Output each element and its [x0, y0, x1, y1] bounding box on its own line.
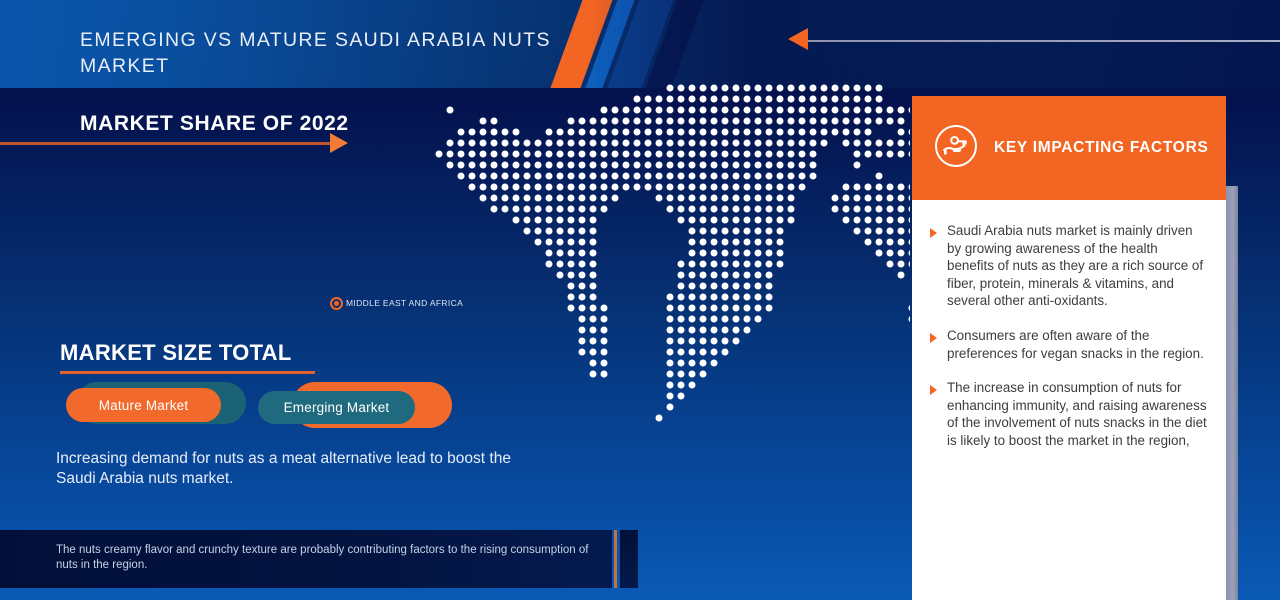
- key-impacting-factors-panel: KEY IMPACTING FACTORS Saudi Arabia nuts …: [912, 96, 1226, 600]
- header-gradient-overlay: [590, 0, 1280, 88]
- market-share-heading: MARKET SHARE OF 2022: [80, 112, 349, 136]
- list-item: The increase in consumption of nuts for …: [930, 379, 1208, 449]
- market-size-rule: [60, 371, 315, 374]
- legend-item-mature-market[interactable]: Mature Market: [66, 388, 256, 436]
- market-size-caption: Increasing demand for nuts as a meat alt…: [56, 449, 526, 489]
- arrow-right-icon: [330, 133, 348, 153]
- target-ring-icon: [330, 297, 343, 310]
- list-item-text: The increase in consumption of nuts for …: [947, 379, 1208, 449]
- legend-emerging-pill[interactable]: Emerging Market: [258, 391, 415, 424]
- key-factors-list: Saudi Arabia nuts market is mainly drive…: [912, 200, 1226, 450]
- legend-mature-pill[interactable]: Mature Market: [66, 388, 221, 422]
- list-item-text: Consumers are often aware of the prefere…: [947, 327, 1208, 362]
- list-item-text: Saudi Arabia nuts market is mainly drive…: [947, 222, 1208, 310]
- page-title: EMERGING VS MATURE SAUDI ARABIA NUTS MAR…: [80, 27, 640, 79]
- market-share-rule: [0, 142, 332, 145]
- market-size-heading: MARKET SIZE TOTAL: [60, 340, 292, 366]
- bullet-triangle-icon: [930, 333, 937, 343]
- legend-item-emerging-market[interactable]: Emerging Market: [258, 388, 448, 436]
- footnote-end-block: [620, 530, 638, 588]
- list-item: Consumers are often aware of the prefere…: [930, 327, 1208, 362]
- panel-body: Saudi Arabia nuts market is mainly drive…: [912, 200, 1226, 600]
- bullet-triangle-icon: [930, 228, 937, 238]
- infographic-canvas: EMERGING VS MATURE SAUDI ARABIA NUTS MAR…: [0, 0, 1280, 600]
- arrow-left-icon: [788, 28, 808, 50]
- footnote-text: The nuts creamy flavor and crunchy textu…: [56, 543, 602, 573]
- hand-holding-key-icon: [934, 124, 978, 173]
- panel-header: KEY IMPACTING FACTORS: [912, 96, 1226, 200]
- bullet-triangle-icon: [930, 385, 937, 395]
- panel-title: KEY IMPACTING FACTORS: [994, 139, 1209, 157]
- header-arrow-line: [806, 40, 1280, 42]
- list-item: Saudi Arabia nuts market is mainly drive…: [930, 222, 1208, 310]
- footnote-accent-line: [614, 530, 617, 588]
- map-region-label: MIDDLE EAST AND AFRICA: [346, 298, 463, 310]
- panel-drop-shadow: [1226, 186, 1238, 600]
